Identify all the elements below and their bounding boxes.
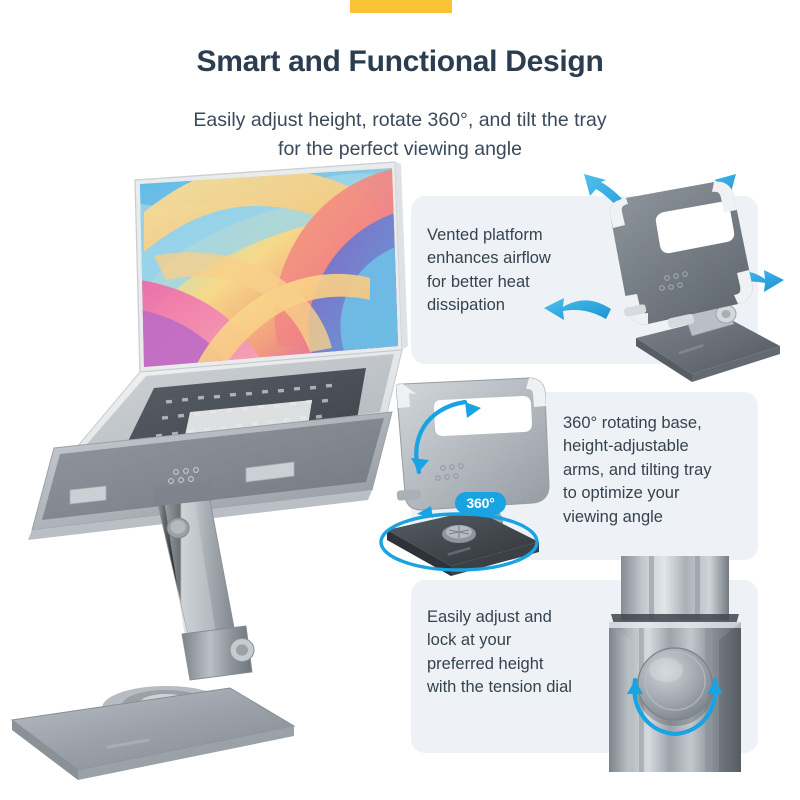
tilt-arrow — [416, 402, 465, 472]
dial-arrow-right — [707, 680, 723, 694]
page-subtitle-line-1: Easily adjust height, rotate 360°, and t… — [100, 106, 700, 135]
card-tension-line-2: lock at your — [427, 629, 572, 652]
tilt-arrow-head-bottom — [411, 458, 429, 472]
stand-hinge — [682, 296, 736, 336]
top-accent-bar — [350, 0, 452, 13]
airflow-arrow-group — [544, 174, 784, 320]
product-feature-page: Smart and Functional Design Easily adjus… — [0, 0, 800, 800]
page-subtitle: Easily adjust height, rotate 360°, and t… — [100, 106, 700, 164]
feature-card-vented-platform-text: Vented platform enhances airflow for bet… — [427, 224, 551, 318]
card-vent-line-3: for better heat — [427, 271, 551, 294]
laptop-display — [135, 162, 408, 372]
card-rotate-line-4: to optimize your — [563, 482, 712, 505]
feature-card-rotating-base-text: 360° rotating base, height-adjustable ar… — [563, 412, 712, 529]
card-tension-line-1: Easily adjust and — [427, 606, 572, 629]
rotation-badge-360: 360° — [455, 492, 506, 514]
feature-card-rotating-base: 360° rotating base, height-adjustable ar… — [411, 392, 758, 560]
feature-card-vented-platform: Vented platform enhances airflow for bet… — [411, 196, 758, 364]
inner-column — [621, 556, 729, 620]
tilt-arrow-head-top — [465, 402, 481, 418]
page-title: Smart and Functional Design — [0, 44, 800, 79]
card-vent-line-2: enhances airflow — [427, 247, 551, 270]
hero-product-image — [0, 160, 414, 780]
card-vent-line-1: Vented platform — [427, 224, 551, 247]
feature-card-tension-dial-text: Easily adjust and lock at your preferred… — [427, 606, 572, 700]
stand-base — [12, 686, 294, 780]
card-tension-line-3: preferred height — [427, 653, 572, 676]
tension-dial-knob — [636, 648, 714, 726]
rotation-arrow-left — [417, 506, 433, 518]
vented-platform-icon — [528, 166, 788, 391]
tension-dial-icon — [583, 552, 768, 777]
outer-column — [609, 622, 741, 772]
feature-card-tension-dial: Easily adjust and lock at your preferred… — [411, 580, 758, 753]
card-rotate-line-1: 360° rotating base, — [563, 412, 712, 435]
vented-tray — [610, 182, 753, 329]
dial-arrow-left — [627, 680, 643, 694]
card-rotate-line-3: arms, and tilting tray — [563, 459, 712, 482]
card-rotate-line-5: viewing angle — [563, 506, 712, 529]
card-vent-line-4: dissipation — [427, 294, 551, 317]
dial-rotation-arrows — [627, 680, 723, 734]
stand-base-plate — [636, 316, 780, 374]
card-tension-line-4: with the tension dial — [427, 676, 572, 699]
card-rotate-line-2: height-adjustable — [563, 435, 712, 458]
